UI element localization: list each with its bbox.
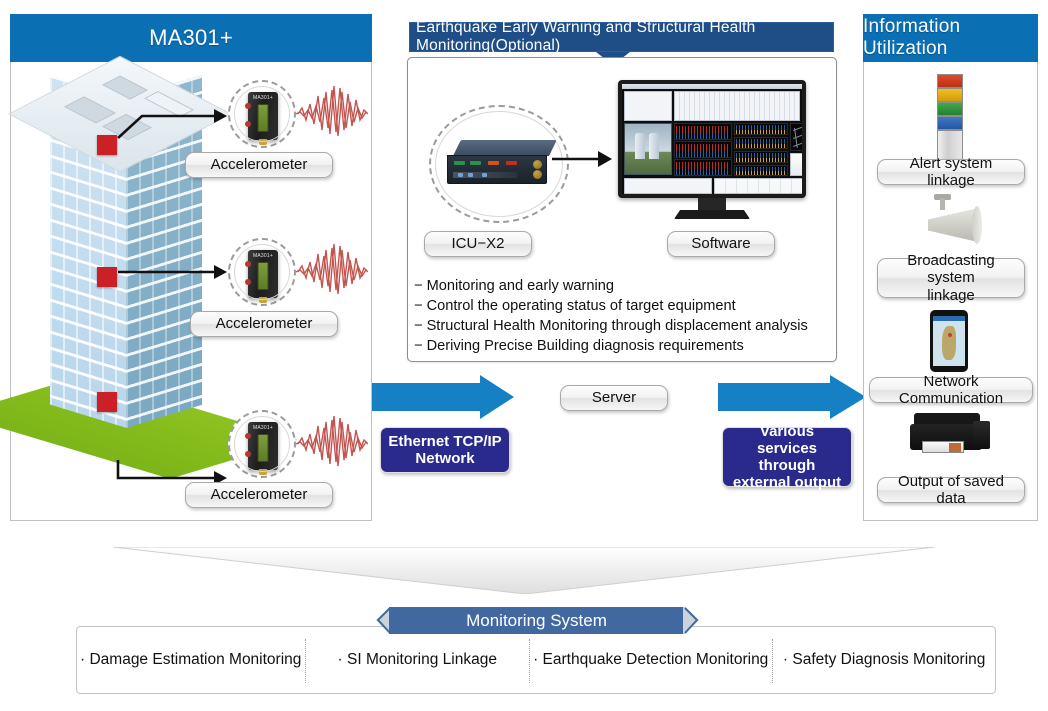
- waveform-panel: [734, 165, 788, 176]
- light-segment-amber: [937, 88, 963, 102]
- waveform-panel: [674, 159, 732, 176]
- device-knob: [245, 451, 251, 457]
- ma301-panel-title: MA301+: [10, 14, 372, 62]
- building-tower-2: [649, 133, 659, 159]
- monitoring-item-si-linkage: · SI Monitoring Linkage: [305, 651, 529, 669]
- printer-output-tray: [922, 441, 964, 453]
- icu-x2-label: ICU−X2: [424, 231, 532, 257]
- device-window: [258, 262, 269, 290]
- device-window: [258, 104, 269, 132]
- smartphone-map-icon: [930, 310, 968, 372]
- accelerometer-device-icon: MA301+: [248, 250, 278, 298]
- usb-port-icon: [482, 173, 487, 177]
- icu-front-face: [447, 155, 547, 184]
- device-window: [258, 434, 269, 462]
- seismic-waveform-base: [296, 410, 368, 478]
- monitoring-item-damage-estimation: · Damage Estimation Monitoring: [76, 651, 305, 669]
- information-utilization-title: Information Utilization: [863, 14, 1038, 62]
- monitoring-system-items: · Damage Estimation Monitoring · SI Moni…: [76, 626, 996, 694]
- waveform-trace: [676, 162, 730, 169]
- monitor-screen: [622, 84, 802, 194]
- roof-unit: [64, 96, 116, 123]
- services-label-line1: Various services: [757, 423, 817, 457]
- waveform-panel: [674, 123, 732, 140]
- software-button-bar: [714, 178, 802, 194]
- broadcast-label-line2: linkage: [927, 287, 975, 304]
- software-building-view: [624, 123, 672, 175]
- server-label: Server: [560, 385, 668, 411]
- waveform-trace: [676, 144, 730, 151]
- antenna-connector-icon: [533, 160, 542, 169]
- usb-port-icon: [468, 173, 473, 177]
- accelerometer-circle-base: MA301+: [228, 410, 296, 478]
- building-illustration: [14, 62, 244, 502]
- monitoring-item-safety-diagnosis: · Safety Diagnosis Monitoring: [772, 651, 996, 669]
- map-landmass: [942, 326, 956, 360]
- accelerometer-label-top: Accelerometer: [185, 152, 333, 178]
- waveform-trace: [676, 133, 730, 140]
- accelerometer-circle-middle: MA301+: [228, 238, 296, 306]
- waveform-panel: [674, 141, 732, 158]
- device-model-text: MA301+: [248, 95, 278, 101]
- device-knob: [245, 261, 251, 267]
- light-segment-green: [937, 102, 963, 116]
- ethernet-label-line1: Ethernet TCP/IP: [388, 433, 501, 450]
- icu-top-face: [453, 140, 557, 156]
- speaker-stem: [940, 198, 945, 210]
- device-model-text: MA301+: [248, 253, 278, 259]
- software-status-panel: [624, 91, 672, 121]
- software-label: Software: [667, 231, 775, 257]
- sensor-marker-top: [97, 135, 117, 155]
- device-knob: [245, 279, 251, 285]
- output-saved-data-label: Output of saved data: [877, 477, 1025, 503]
- device-connector: [259, 469, 267, 475]
- icu-to-software-arrow: [552, 146, 614, 172]
- waveform-trace: [676, 169, 730, 176]
- waveform-trace: [736, 144, 786, 149]
- 3d-model-view: [790, 123, 802, 151]
- printed-page: [949, 443, 961, 452]
- device-knob: [245, 103, 251, 109]
- speaker-mouth: [972, 206, 982, 244]
- services-label-line3: external output: [733, 474, 841, 491]
- funnel-connector: [113, 547, 935, 594]
- monitor-bezel: [618, 80, 806, 198]
- waveform-panel: [734, 123, 788, 135]
- accelerometer-label-base: Accelerometer: [185, 482, 333, 508]
- monitoring-item-earthquake-detection: · Earthquake Detection Monitoring: [529, 651, 772, 669]
- monitor-stand: [674, 210, 750, 219]
- broadcasting-system-linkage-label: Broadcasting system linkage: [877, 258, 1025, 298]
- feature-bullet-list: − Monitoring and early warning − Control…: [414, 276, 808, 356]
- status-led-red: [506, 161, 517, 165]
- roof-unit: [144, 91, 194, 117]
- software-parameter-grid: [674, 91, 800, 121]
- services-label-line2: through: [759, 457, 816, 474]
- building-tower-1: [635, 133, 645, 159]
- horn-speaker-icon: [918, 198, 982, 244]
- light-segment-blue: [937, 116, 963, 130]
- printer-ink-tank: [973, 421, 990, 449]
- diagram-canvas: MA301+: [0, 0, 1048, 711]
- phone-screen: [933, 316, 965, 366]
- sensor-marker-middle: [97, 267, 117, 287]
- ethernet-label-line2: Network: [415, 450, 474, 467]
- broadcast-label-line1: Broadcasting system: [884, 252, 1018, 287]
- waveform-trace: [736, 130, 786, 135]
- network-communication-label: Network Communication: [869, 377, 1033, 403]
- high-rise-building-icon: [50, 72, 202, 442]
- bullet-item: − Deriving Precise Building diagnosis re…: [414, 336, 808, 356]
- software-log-panel: [624, 178, 712, 194]
- roof-unit: [102, 76, 148, 100]
- icu-x2-device-icon: [447, 140, 551, 184]
- waveform-trace: [676, 126, 730, 133]
- sensor-marker-base: [97, 392, 117, 412]
- waveform-trace: [736, 171, 786, 176]
- accelerometer-circle-top: MA301+: [228, 80, 296, 148]
- bullet-item: − Structural Health Monitoring through d…: [414, 316, 808, 336]
- alert-system-linkage-label: Alert system linkage: [877, 159, 1025, 185]
- device-knob: [245, 433, 251, 439]
- light-segment-red: [937, 74, 963, 88]
- device-connector: [259, 297, 267, 303]
- software-monitor-icon: [618, 80, 806, 220]
- power-dial-icon: [533, 170, 542, 179]
- seismic-waveform-middle: [296, 238, 368, 306]
- status-led-green: [454, 161, 465, 165]
- device-model-text: MA301+: [248, 425, 278, 431]
- eew-shm-panel-title: Earthquake Early Warning and Structural …: [409, 22, 834, 52]
- ethernet-network-label: Ethernet TCP/IP Network: [380, 427, 510, 473]
- status-led-green: [470, 161, 481, 165]
- seismic-waveform-top: [296, 80, 368, 148]
- waveform-trace: [736, 158, 786, 163]
- ethernet-flow-arrow: [372, 375, 514, 425]
- accelerometer-device-icon: MA301+: [248, 422, 278, 470]
- software-titlebar: [622, 84, 802, 89]
- accelerometer-label-middle: Accelerometer: [190, 311, 338, 337]
- waveform-panel: [734, 137, 788, 149]
- speaker-cone: [928, 208, 978, 242]
- accelerometer-device-icon: MA301+: [248, 92, 278, 140]
- device-connector: [259, 139, 267, 145]
- printer-icon: [910, 413, 990, 459]
- various-services-label: Various services through external output: [722, 427, 852, 487]
- status-led-orange: [488, 161, 499, 165]
- spectrum-chart-view: [790, 153, 802, 176]
- waveform-trace: [676, 151, 730, 158]
- bullet-item: − Control the operating status of target…: [414, 296, 808, 316]
- usb-port-icon: [458, 173, 463, 177]
- monitor-neck: [698, 198, 726, 212]
- map-marker: [948, 333, 952, 337]
- external-output-flow-arrow: [718, 375, 866, 425]
- waveform-panel: [734, 151, 788, 163]
- device-knob: [245, 121, 251, 127]
- bullet-item: − Monitoring and early warning: [414, 276, 808, 296]
